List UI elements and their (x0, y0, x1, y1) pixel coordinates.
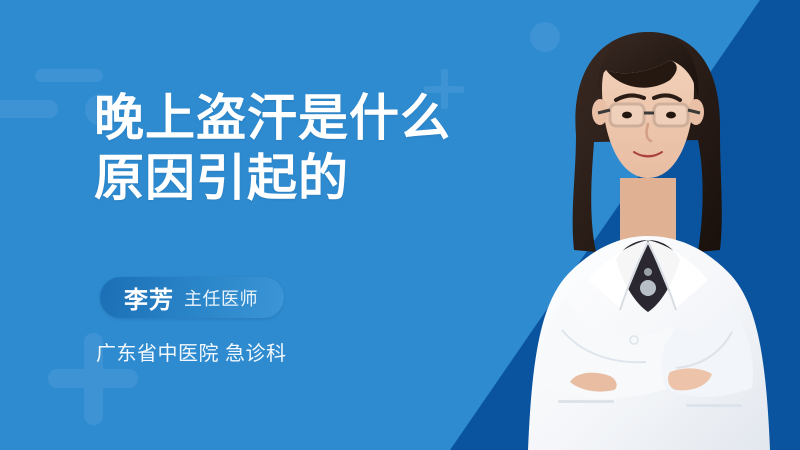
doctor-rank-label: 主任医师 (184, 285, 258, 311)
pill-bar-left-decoration (0, 100, 58, 118)
pill-bar-top-decoration (35, 69, 103, 82)
doctor-hospital-department: 广东省中医院 急诊科 (96, 337, 287, 366)
doctor-name-badge[interactable]: 李芳 主任医师 (100, 277, 284, 318)
video-title: 晚上盗汗是什么 原因引起的 (94, 88, 514, 208)
doctor-portrait-photo (470, 0, 800, 450)
video-cover-card: 晚上盗汗是什么 原因引起的 李芳 主任医师 广东省中医院 急诊科 (0, 0, 800, 450)
doctor-name: 李芳 (124, 280, 174, 315)
